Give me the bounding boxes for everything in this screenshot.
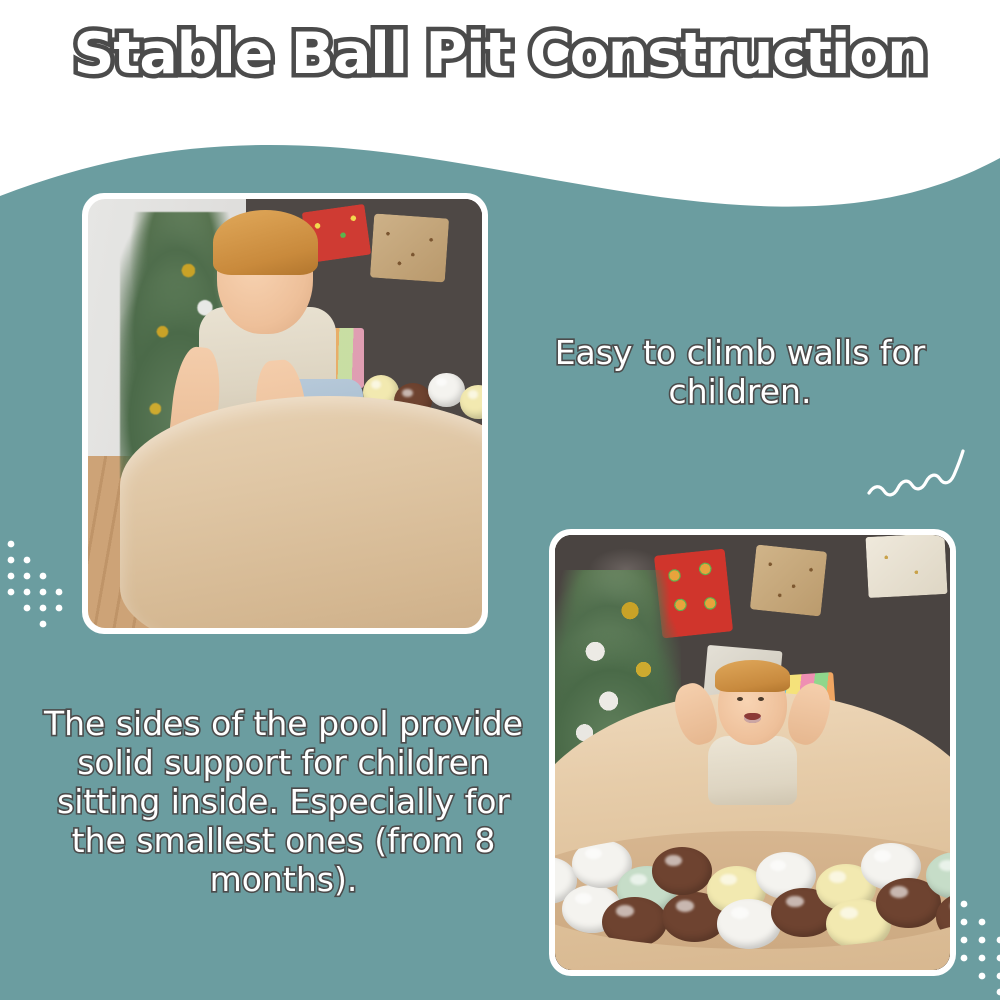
page-title: Stable Ball Pit Construction [74,22,927,88]
squiggle-decoration-icon [866,443,966,499]
child-arm-left [669,679,723,749]
callout-solid-support: The sides of the pool provide solid supp… [36,705,531,900]
poster-canvas: Stable Ball Pit Construction [0,0,1000,1000]
child-hair [715,660,791,693]
child-hair [213,210,318,275]
photo-sitting-image [555,535,950,970]
dot-pattern-left-icon [6,538,68,642]
ball-pit-interior [555,831,950,949]
child-sitting [674,666,832,814]
title-container: Stable Ball Pit Construction [0,22,1000,88]
gift-tan [749,545,827,617]
dot-pattern-right-icon [957,898,1000,998]
callout-easy-to-climb: Easy to climb walls for children. [510,334,970,412]
child-shirt [708,736,796,804]
child-arm-right [783,679,837,749]
photo-climbing-image [88,199,482,628]
ball-pit-pool [120,396,482,628]
photo-climbing [82,193,488,634]
gift-white [866,535,948,598]
photo-sitting [549,529,956,976]
